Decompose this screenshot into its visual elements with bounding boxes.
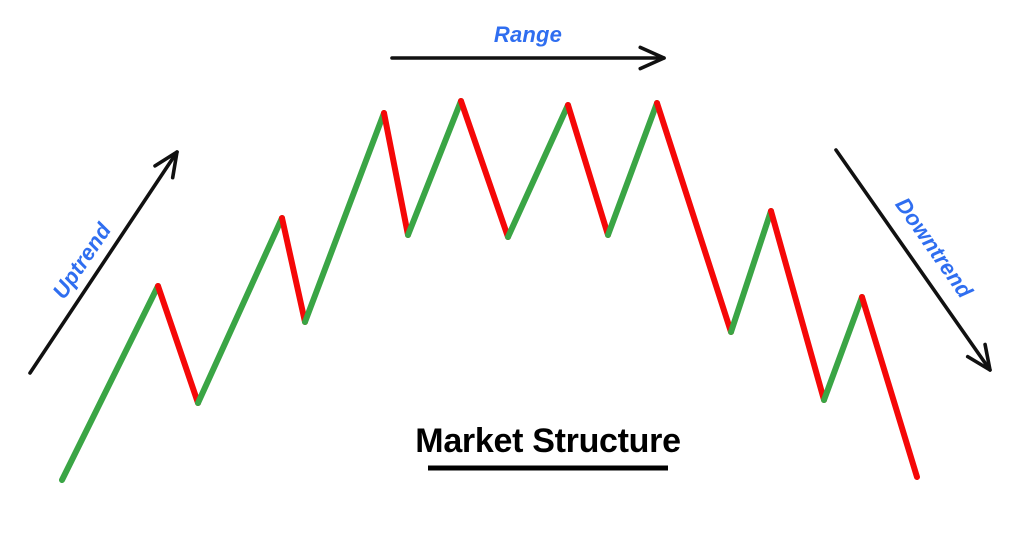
annotation-label-range: Range — [494, 22, 562, 47]
market-structure-figure: UptrendRangeDowntrend Market Structure — [0, 0, 1024, 541]
page-title: Market Structure — [415, 422, 680, 460]
diagram-canvas: UptrendRangeDowntrend Market Structure — [0, 0, 1024, 541]
